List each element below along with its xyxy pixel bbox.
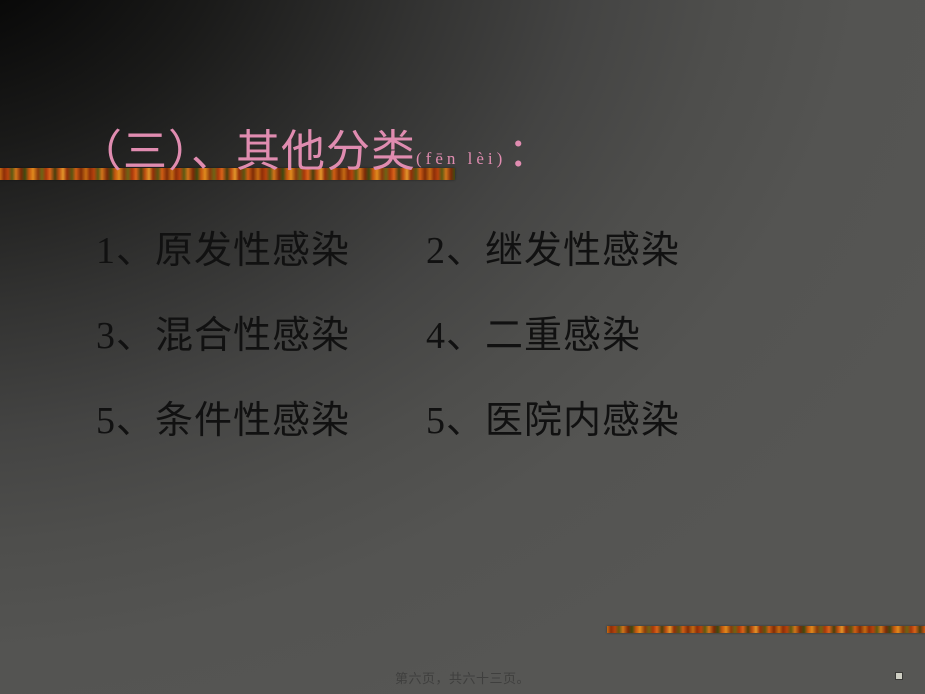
title-pinyin-annotation: (fēn lèi) bbox=[416, 149, 506, 168]
list-item-secondary-infection: 2、继发性感染 bbox=[426, 232, 726, 272]
corner-marker-dot bbox=[896, 673, 902, 679]
list-row: 5、条件性感染 5、医院内感染 bbox=[96, 402, 736, 487]
list-item-nosocomial-infection: 5、医院内感染 bbox=[426, 402, 726, 442]
page-number-footer: 第六页，共六十三页。 bbox=[0, 668, 925, 687]
list-item-opportunistic-infection: 5、条件性感染 bbox=[96, 402, 426, 442]
slide-title: （三）、其他分类(fēn lèi)： bbox=[78, 130, 548, 174]
title-colon: ： bbox=[508, 130, 548, 175]
list-item-mixed-infection: 3、混合性感染 bbox=[96, 317, 426, 357]
classification-list: 1、原发性感染 2、继发性感染 3、混合性感染 4、二重感染 5、条件性感染 5… bbox=[96, 232, 736, 487]
slide-canvas: （三）、其他分类(fēn lèi)： 1、原发性感染 2、继发性感染 3、混合性… bbox=[0, 0, 925, 694]
list-row: 3、混合性感染 4、二重感染 bbox=[96, 317, 736, 402]
title-main-text: （三）、其他分类 bbox=[78, 127, 416, 176]
footer-decorative-ribbon bbox=[607, 626, 925, 633]
list-item-primary-infection: 1、原发性感染 bbox=[96, 232, 426, 272]
list-item-superinfection: 4、二重感染 bbox=[426, 317, 726, 357]
list-row: 1、原发性感染 2、继发性感染 bbox=[96, 232, 736, 317]
